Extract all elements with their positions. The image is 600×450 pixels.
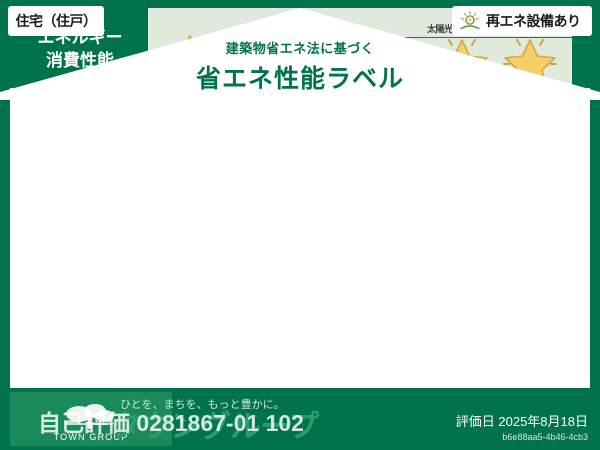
building-type-text: 住宅（住戸） (16, 11, 97, 31)
label-title: 省エネ性能ラベル (0, 59, 600, 95)
label-footer: TOWN GROUP ひとを、まちを、もっと豊かに。 タウングループ 評価日 2… (0, 388, 600, 450)
label-title-block: 建築物省エネ法に基づく 省エネ性能ラベル (0, 38, 600, 95)
brand-name: タウングループ (110, 401, 318, 446)
building-type-badge: 住宅（住戸） (8, 6, 104, 36)
sun-icon: P (458, 9, 482, 33)
evaluation-date: 評価日 2025年8月18日 (456, 411, 588, 430)
label-body-panel (10, 88, 590, 388)
evaluation-date-block: 評価日 2025年8月18日 b6e88aa5-4b46-4cb3 (456, 411, 588, 442)
record-id: b6e88aa5-4b46-4cb3 (456, 432, 588, 442)
renewable-badge-text: 再エネ設備あり (486, 11, 581, 31)
svg-text:P: P (468, 18, 472, 24)
renewable-energy-badge: P 再エネ設備あり (452, 6, 592, 36)
label-subtitle: 建築物省エネ法に基づく (0, 38, 600, 57)
energy-performance-label: 住宅（住戸） P 再エネ設備あり 建築物省エネ法に基づく 省エネ性能ラベル エネ… (0, 0, 600, 450)
